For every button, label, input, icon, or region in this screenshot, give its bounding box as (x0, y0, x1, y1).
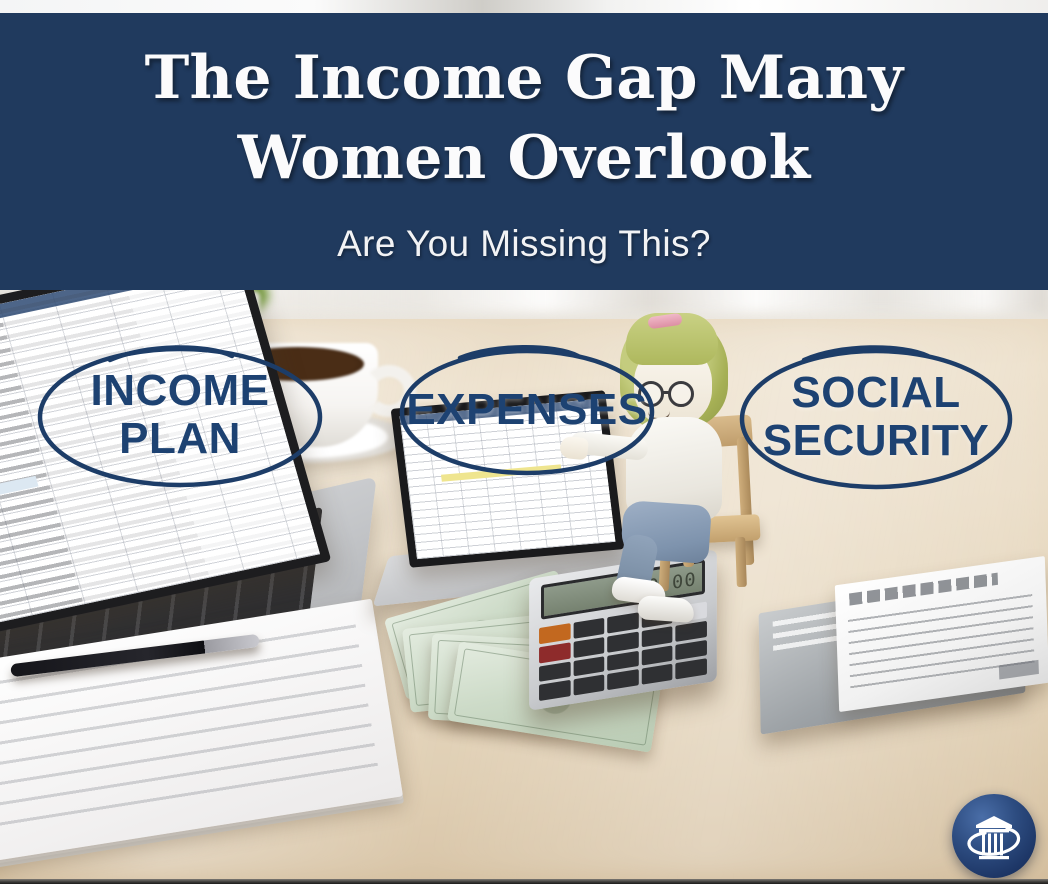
social-media-graphic: 0.00 (0, 0, 1048, 884)
chair-leg (735, 537, 747, 587)
header-banner: The Income Gap Many Women Overlook Are Y… (0, 13, 1048, 290)
callout-social-security-label: SOCIAL SECURITY (738, 344, 1014, 490)
page-title: The Income Gap Many Women Overlook (0, 39, 1048, 199)
character-glasses-bridge (663, 391, 671, 394)
page-title-line-1: The Income Gap Many (0, 39, 1048, 119)
callout-social-security-line-1: SOCIAL (791, 371, 960, 415)
brand-logo[interactable] (952, 794, 1036, 878)
character-shoe (637, 595, 695, 623)
callout-income-plan-line-1: INCOME (91, 369, 270, 413)
callout-expenses: EXPENSES (398, 344, 656, 476)
page-title-line-2: Women Overlook (0, 119, 1048, 199)
classical-column-icon (963, 805, 1025, 867)
callout-social-security: SOCIAL SECURITY (738, 344, 1014, 490)
page-subtitle: Are You Missing This? (0, 223, 1048, 265)
callout-income-plan-label: INCOME PLAN (36, 342, 324, 488)
callout-social-security-line-2: SECURITY (763, 419, 989, 463)
bottom-edge-strip (0, 879, 1048, 884)
callout-income-plan: INCOME PLAN (36, 342, 324, 488)
character-glasses-lens (668, 381, 694, 407)
callout-expenses-line-1: EXPENSES (406, 388, 647, 432)
callout-income-plan-line-2: PLAN (119, 417, 241, 461)
top-edge-strip (0, 0, 1048, 13)
callout-expenses-label: EXPENSES (398, 344, 656, 476)
